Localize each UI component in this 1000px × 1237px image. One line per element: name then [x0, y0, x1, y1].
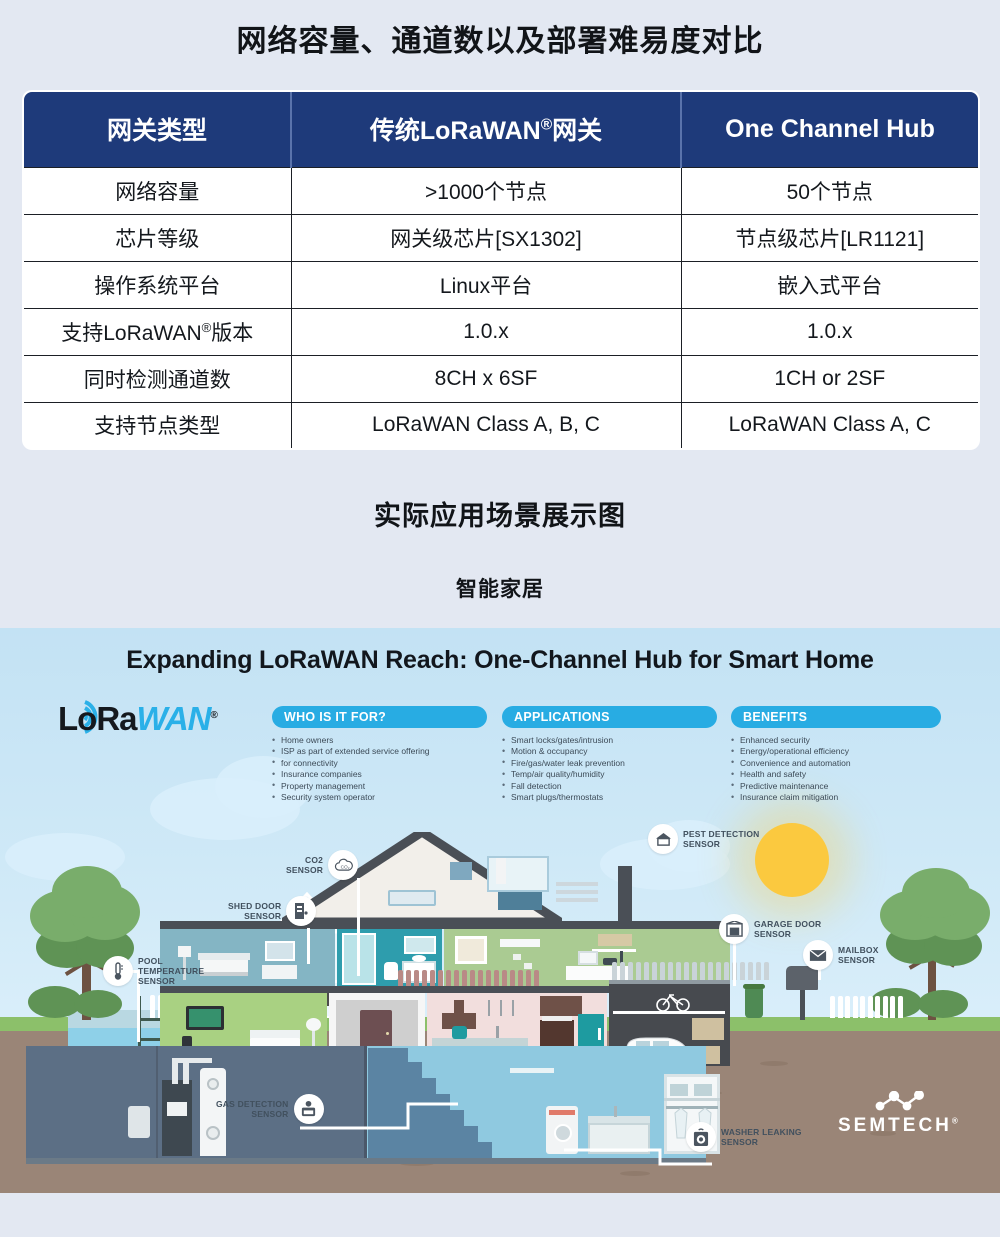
oven-control	[542, 1016, 572, 1021]
railing-bar	[526, 970, 531, 986]
porch-railing	[398, 970, 539, 986]
pendant-light	[488, 1000, 490, 1016]
closet-box	[694, 1084, 712, 1096]
railing-bar	[628, 962, 633, 980]
bicycle-icon	[656, 992, 690, 1012]
row-value-hub: 1.0.x	[681, 308, 979, 355]
tree-canopy-shrub	[918, 990, 968, 1018]
list-item: Energy/operational efficiency	[731, 746, 941, 757]
closet-shelf	[664, 1098, 720, 1101]
fence-picket	[868, 996, 873, 1018]
semtech-logo: SEMTECH®	[838, 1115, 961, 1137]
railing-bar	[478, 970, 483, 986]
railing-bar	[486, 970, 491, 986]
closet-box	[670, 1084, 688, 1096]
column-list: Smart locks/gates/intrusion Motion & occ…	[502, 735, 717, 803]
column-list: Home owners ISP as part of extended serv…	[272, 735, 487, 803]
table-row: 操作系统平台 Linux平台 嵌入式平台	[23, 261, 979, 308]
tree-canopy	[902, 868, 970, 918]
office-shelf	[592, 949, 636, 952]
fence-picket	[853, 996, 858, 1018]
table-row: 芯片等级 网关级芯片[SX1302] 节点级芯片[LR1121]	[23, 214, 979, 261]
table-header-row: 网关类型 传统LoRaWAN®网关 One Channel Hub	[23, 91, 979, 167]
furnace	[162, 1080, 192, 1156]
column-who-is-it-for: WHO IS IT FOR? Home owners ISP as part o…	[272, 706, 487, 803]
railing-bar	[724, 962, 729, 980]
railing-bar	[676, 962, 681, 980]
door-sensor-icon	[286, 896, 316, 926]
row-value-traditional: LoRaWAN Class A, B, C	[291, 402, 681, 449]
tv	[186, 1006, 224, 1030]
sensor-callout-pest-detection: PEST DETECTION SENSOR	[648, 824, 759, 854]
attic-window	[450, 862, 472, 880]
railing-bar	[454, 970, 459, 986]
semtech-wordmark: SEMTECH®	[838, 1115, 961, 1137]
railing-bar	[716, 962, 721, 980]
pipe-horizontal	[172, 1058, 212, 1063]
list-item: Fire/gas/water leak prevention	[502, 758, 717, 769]
row-label: 操作系统平台	[23, 261, 291, 308]
garage-icon	[719, 914, 749, 944]
range-hood-duct	[454, 1000, 464, 1014]
fence-picket	[883, 996, 888, 1018]
bathroom-sink	[412, 955, 426, 962]
attic-storage	[556, 898, 598, 902]
row-label: 网络容量	[23, 167, 291, 214]
comparison-table-wrapper: 网关类型 传统LoRaWAN®网关 One Channel Hub 网络容量 >…	[22, 90, 978, 450]
railing-bar	[446, 970, 451, 986]
sofa-back	[250, 1030, 300, 1038]
column-list: Enhanced security Energy/operational eff…	[731, 735, 941, 803]
chimney	[618, 866, 632, 924]
list-item: Fall detection	[502, 781, 717, 792]
office-window	[455, 936, 487, 964]
bed-headboard	[198, 953, 250, 960]
fence-picket	[830, 996, 835, 1018]
list-item: Security system operator	[272, 792, 487, 803]
lorawan-logo: LoRaWAN®	[58, 702, 217, 735]
basement-wall-divider	[156, 1046, 158, 1158]
furnace-pipe	[183, 1060, 189, 1084]
balcony-deck	[609, 980, 730, 984]
railing-bar	[438, 970, 443, 986]
row-label-post: 版本	[211, 322, 253, 345]
logo-text-dark: LoRa	[58, 700, 137, 737]
sensor-callout-washer-leaking: WASHER LEAKING SENSOR	[686, 1122, 802, 1152]
railing-bar	[414, 970, 419, 986]
mailbox-post	[800, 990, 805, 1020]
svg-text:CO₂: CO₂	[340, 865, 349, 871]
railing-bar	[644, 962, 649, 980]
railing-bar	[494, 970, 499, 986]
office-wall-note	[513, 954, 521, 960]
attic-lamp	[496, 858, 506, 884]
sensor-label: GARAGE DOOR SENSOR	[754, 919, 821, 939]
basement-ceiling-light	[510, 1068, 554, 1073]
infographic-title: Expanding LoRaWAN Reach: One-Channel Hub…	[0, 646, 1000, 675]
column-heading: BENEFITS	[731, 706, 941, 728]
row-value-traditional: 1.0.x	[291, 308, 681, 355]
railing-bar	[668, 962, 673, 980]
trash-can-lid	[743, 984, 765, 989]
sensor-callout-shed-door: SHED DOOR SENSOR	[228, 896, 316, 926]
list-item: Smart locks/gates/intrusion	[502, 735, 717, 746]
table-header-traditional-gateway: 传统LoRaWAN®网关	[291, 91, 681, 167]
fence-picket	[875, 996, 880, 1018]
table-row: 支持节点类型 LoRaWAN Class A, B, C LoRaWAN Cla…	[23, 402, 979, 449]
list-item: Enhanced security	[731, 735, 941, 746]
furnace-panel	[167, 1102, 187, 1116]
envelope-icon	[803, 940, 833, 970]
row-label-pre: 支持LoRaWAN	[61, 322, 201, 345]
railing-bar	[684, 962, 689, 980]
sun-icon	[755, 823, 829, 897]
toilet	[384, 962, 398, 980]
row-value-traditional: Linux平台	[291, 261, 681, 308]
sensor-label: POOL TEMPERATURE SENSOR	[138, 956, 204, 986]
attic-bed	[388, 890, 436, 906]
washer-icon	[686, 1122, 716, 1152]
railing-bar	[700, 962, 705, 980]
row-value-hub: 嵌入式平台	[681, 261, 979, 308]
table-body: 网络容量 >1000个节点 50个节点 芯片等级 网关级芯片[SX1302] 节…	[23, 167, 979, 449]
cloud-co2-icon: CO₂	[328, 850, 358, 880]
column-benefits: BENEFITS Enhanced security Energy/operat…	[731, 706, 941, 803]
sensor-label: GAS DETECTION SENSOR	[216, 1099, 289, 1119]
railing-bar	[652, 962, 657, 980]
picket-fence-right	[830, 996, 903, 1018]
list-item: Motion & occupancy	[502, 746, 717, 757]
row-label: 支持节点类型	[23, 402, 291, 449]
fence-picket	[838, 996, 843, 1018]
sensor-label: MAILBOX SENSOR	[838, 945, 879, 965]
sensor-label: CO2 SENSOR	[286, 855, 323, 875]
row-value-hub: 50个节点	[681, 167, 979, 214]
list-item: Property management	[272, 781, 487, 792]
bed	[200, 958, 248, 976]
railing-bar	[764, 962, 769, 980]
th2-post: 网关	[552, 117, 602, 145]
attic-storage	[556, 890, 598, 894]
table-row: 同时检测通道数 8CH x 6SF 1CH or 2SF	[23, 355, 979, 402]
row-value-hub: 节点级芯片[LR1121]	[681, 214, 979, 261]
garage-pegboard	[692, 1018, 724, 1040]
tree-canopy	[52, 866, 122, 918]
railing-bar	[510, 970, 515, 986]
fence-picket	[845, 996, 850, 1018]
list-item: Insurance claim mitigation	[731, 792, 941, 803]
sensor-stem	[357, 878, 360, 976]
kitchen-cabinet	[540, 996, 582, 1016]
railing-bar	[692, 962, 697, 980]
railing-bar	[660, 962, 665, 980]
bathroom-mirror	[404, 936, 436, 954]
sensor-label: SHED DOOR SENSOR	[228, 901, 281, 921]
balcony-railing	[612, 962, 769, 980]
row-label: 支持LoRaWAN®版本	[23, 308, 291, 355]
railing-bar	[740, 962, 745, 980]
lamp-shade	[306, 1018, 321, 1031]
fence-picket	[898, 996, 903, 1018]
registered-mark-icon: ®	[541, 117, 552, 134]
page-title: 网络容量、通道数以及部署难易度对比	[0, 0, 1000, 60]
fence-picket	[150, 995, 155, 1018]
railing-bar	[636, 962, 641, 980]
stair-step	[368, 1048, 408, 1062]
house-pest-icon	[648, 824, 678, 854]
bedroom-artwork	[265, 941, 295, 961]
sensor-stem	[307, 928, 310, 964]
railing-bar	[462, 970, 467, 986]
pendant-light	[500, 1000, 502, 1016]
water-heater-gauge-icon	[207, 1078, 219, 1090]
infographic-panel: Expanding LoRaWAN Reach: One-Channel Hub…	[0, 628, 1000, 1193]
page-root: 网络容量、通道数以及部署难易度对比 网关类型 传统LoRaWAN®网关 One …	[0, 0, 1000, 1237]
list-item: Health and safety	[731, 769, 941, 780]
stair-step	[368, 1078, 436, 1094]
office-shelf-unit	[598, 934, 632, 946]
row-label: 同时检测通道数	[23, 355, 291, 402]
railing-bar	[422, 970, 427, 986]
kettle-icon	[452, 1026, 467, 1039]
railing-bar	[430, 970, 435, 986]
row-value-hub: LoRaWAN Class A, C	[681, 402, 979, 449]
bedroom-dresser	[262, 965, 297, 979]
comparison-table: 网关类型 传统LoRaWAN®网关 One Channel Hub 网络容量 >…	[22, 90, 980, 450]
railing-bar	[470, 970, 475, 986]
table-row: 支持LoRaWAN®版本 1.0.x 1.0.x	[23, 308, 979, 355]
stair-step	[368, 1142, 492, 1158]
railing-bar	[406, 970, 411, 986]
section-heading-scenarios: 实际应用场景展示图	[0, 494, 1000, 533]
railing-bar	[612, 962, 617, 980]
sensor-callout-co2: CO2 SENSOR CO₂	[286, 850, 358, 880]
railing-bar	[518, 970, 523, 986]
row-value-traditional: 网关级芯片[SX1302]	[291, 214, 681, 261]
section-heading-smart-home: 智能家居	[0, 573, 1000, 603]
sensor-callout-mailbox: MAILBOX SENSOR	[803, 940, 879, 970]
list-item: ISP as part of extended service offering	[272, 746, 487, 757]
table-row: 网络容量 >1000个节点 50个节点	[23, 167, 979, 214]
attic-desk	[498, 892, 542, 910]
th2-pre: 传统LoRaWAN	[370, 117, 541, 145]
boiler-unit	[128, 1106, 150, 1138]
table-header-one-channel-hub: One Channel Hub	[681, 91, 979, 167]
sensor-callout-pool-temperature: POOL TEMPERATURE SENSOR	[103, 956, 204, 986]
door-knob-icon	[386, 1032, 389, 1035]
washer-panel	[549, 1110, 575, 1115]
gas-meter-icon	[294, 1094, 324, 1124]
soil-speck	[760, 1061, 788, 1066]
sensor-label: PEST DETECTION SENSOR	[683, 829, 759, 849]
office-ac-unit	[500, 939, 540, 947]
thermometer-icon	[103, 956, 133, 986]
laundry-sink-counter	[588, 1116, 650, 1123]
fence-picket	[860, 996, 865, 1018]
fridge-handle	[598, 1028, 601, 1040]
office-monitor	[578, 951, 598, 965]
row-value-traditional: 8CH x 6SF	[291, 355, 681, 402]
list-item: Home owners	[272, 735, 487, 746]
row-value-hub: 1CH or 2SF	[681, 355, 979, 402]
office-wall-note	[524, 963, 532, 969]
list-item-continuation: for connectivity	[272, 758, 487, 769]
kitchen-faucet	[496, 1026, 499, 1038]
gas-sensor-lead-line	[300, 1096, 460, 1136]
logo-text-cyan: WAN	[137, 700, 211, 737]
railing-bar	[502, 970, 507, 986]
attic-storage	[556, 882, 598, 886]
laundry-faucet	[614, 1106, 617, 1117]
semtech-molecule-icon	[872, 1091, 928, 1113]
list-item: Smart plugs/thermostats	[502, 792, 717, 803]
column-heading: WHO IS IT FOR?	[272, 706, 487, 728]
railing-bar	[534, 970, 539, 986]
tree-canopy-shrub	[74, 990, 122, 1018]
sensor-callout-gas-detection: GAS DETECTION SENSOR	[216, 1094, 324, 1124]
railing-bar	[620, 962, 625, 980]
registered-mark-icon: ®	[211, 710, 217, 721]
column-heading: APPLICATIONS	[502, 706, 717, 728]
sensor-label: WASHER LEAKING SENSOR	[721, 1127, 802, 1147]
fence-picket	[890, 996, 895, 1018]
list-item: Temp/air quality/humidity	[502, 769, 717, 780]
registered-mark-icon: ®	[952, 1117, 961, 1126]
registered-mark-icon: ®	[202, 320, 212, 335]
railing-bar	[398, 970, 403, 986]
pendant-light	[512, 1000, 514, 1016]
table-header-gateway-type: 网关类型	[23, 91, 291, 167]
furnace-pipe	[172, 1060, 178, 1084]
list-item: Convenience and automation	[731, 758, 941, 769]
railing-bar	[748, 962, 753, 980]
list-item: Predictive maintenance	[731, 781, 941, 792]
railing-bar	[708, 962, 713, 980]
list-item: Insurance companies	[272, 769, 487, 780]
row-label: 芯片等级	[23, 214, 291, 261]
stair-step	[368, 1062, 422, 1078]
trash-can	[745, 988, 763, 1018]
row-value-traditional: >1000个节点	[291, 167, 681, 214]
column-applications: APPLICATIONS Smart locks/gates/intrusion…	[502, 706, 717, 803]
water-heater-valve-icon	[206, 1126, 220, 1140]
railing-bar	[756, 962, 761, 980]
